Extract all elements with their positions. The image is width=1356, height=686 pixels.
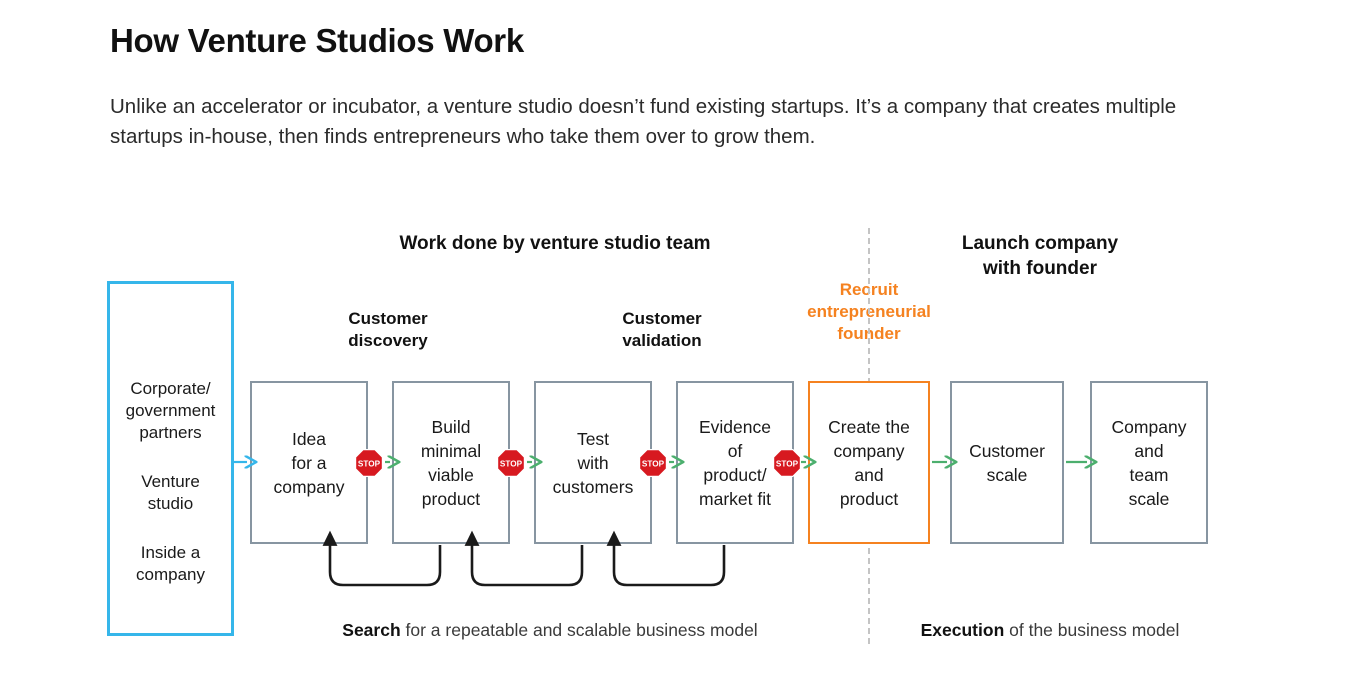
svg-text:STOP: STOP	[500, 460, 523, 469]
footer-execution-bold: Execution	[921, 620, 1005, 640]
connector-layer	[0, 0, 1356, 686]
footer-search-rest: for a repeatable and scalable business m…	[401, 620, 758, 640]
footer-search-bold: Search	[342, 620, 400, 640]
footer-execution-rest: of the business model	[1004, 620, 1179, 640]
pivot-loop-arrow-3	[614, 534, 724, 585]
svg-text:STOP: STOP	[776, 460, 799, 469]
stop-sign-icon: STOP	[639, 449, 667, 477]
infographic-root: How Venture Studios Work Unlike an accel…	[0, 0, 1356, 686]
footer-label-execution: Execution of the business model	[890, 620, 1210, 641]
stop-sign-icon: STOP	[355, 449, 383, 477]
stop-sign-icon: STOP	[773, 449, 801, 477]
svg-text:STOP: STOP	[642, 460, 665, 469]
footer-label-search: Search for a repeatable and scalable bus…	[300, 620, 800, 641]
pivot-loop-arrow-1	[330, 534, 440, 585]
pivot-loop-arrow-2	[472, 534, 582, 585]
stop-sign-icon: STOP	[497, 449, 525, 477]
svg-text:STOP: STOP	[358, 460, 381, 469]
